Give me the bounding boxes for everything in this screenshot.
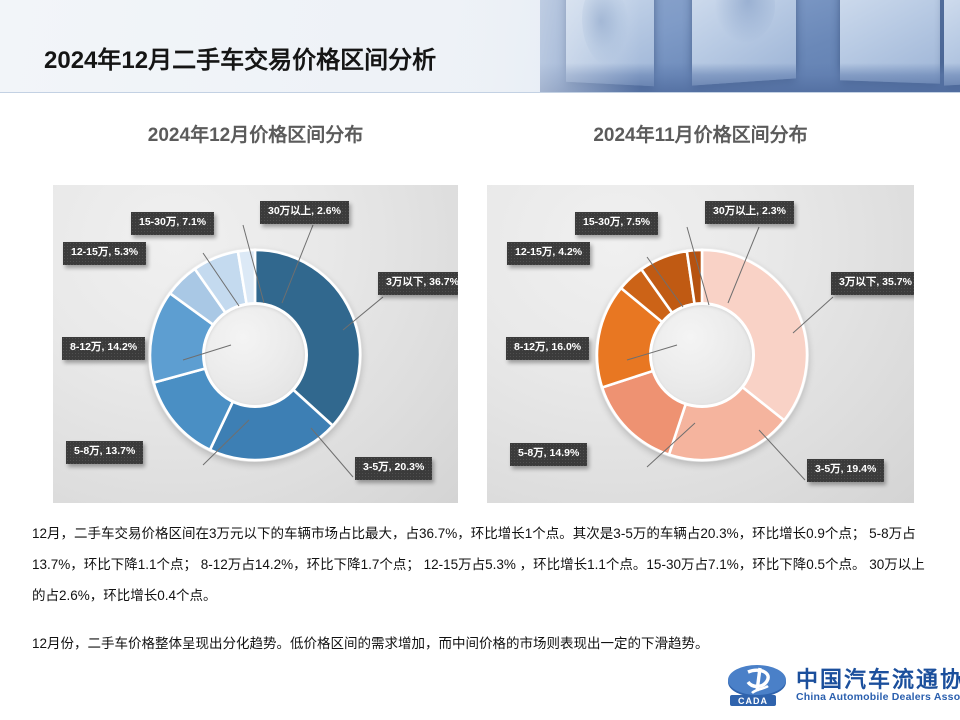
- callout-30w-above-november: 30万以上, 2.3%: [705, 201, 794, 224]
- callout-8-12w-december: 8-12万, 14.2%: [62, 337, 145, 360]
- callout-3-5w-november: 3-5万, 19.4%: [807, 459, 884, 482]
- chart-title-december: 2024年12月价格区间分布: [53, 120, 458, 147]
- association-logo: CADA 中国汽车流通协会 China Automobile Dealers A…: [726, 662, 944, 712]
- callout-15-30w-november: 15-30万, 7.5%: [575, 212, 658, 235]
- callout-below-3w-december: 3万以下, 36.7%: [378, 272, 458, 295]
- chart-plot-december: 15-30万, 7.1% 30万以上, 2.6% 12-15万, 5.3% 8-…: [53, 185, 458, 503]
- callout-5-8w-november: 5-8万, 14.9%: [510, 443, 587, 466]
- page-header: 2024年12月二手车交易价格区间分析: [0, 0, 960, 93]
- cada-logo-icon: CADA: [726, 664, 788, 708]
- analysis-paragraph-2: 12月份，二手车价格整体呈现出分化趋势。低价格区间的需求增加，而中间价格的市场则…: [32, 628, 932, 659]
- logo-name-english: China Automobile Dealers Association: [796, 691, 960, 703]
- callout-5-8w-december: 5-8万, 13.7%: [66, 441, 143, 464]
- page-title: 2024年12月二手车交易价格区间分析: [44, 40, 436, 75]
- header-divider: [0, 92, 960, 93]
- callout-below-3w-november: 3万以下, 35.7%: [831, 272, 914, 295]
- svg-text:CADA: CADA: [738, 696, 768, 706]
- logo-name-chinese: 中国汽车流通协会: [796, 662, 960, 694]
- callout-30w-above-december: 30万以上, 2.6%: [260, 201, 349, 224]
- chart-title-november: 2024年11月价格区间分布: [487, 120, 914, 147]
- callout-3-5w-december: 3-5万, 20.3%: [355, 457, 432, 480]
- analysis-paragraph-1: 12月，二手车交易价格区间在3万元以下的车辆市场占比最大，占36.7%，环比增长…: [32, 518, 932, 611]
- callout-15-30w-december: 15-30万, 7.1%: [131, 212, 214, 235]
- callout-12-15w-november: 12-15万, 4.2%: [507, 242, 590, 265]
- chart-plot-november: 15-30万, 7.5% 30万以上, 2.3% 12-15万, 4.2% 8-…: [487, 185, 914, 503]
- callout-8-12w-november: 8-12万, 16.0%: [506, 337, 589, 360]
- callout-12-15w-december: 12-15万, 5.3%: [63, 242, 146, 265]
